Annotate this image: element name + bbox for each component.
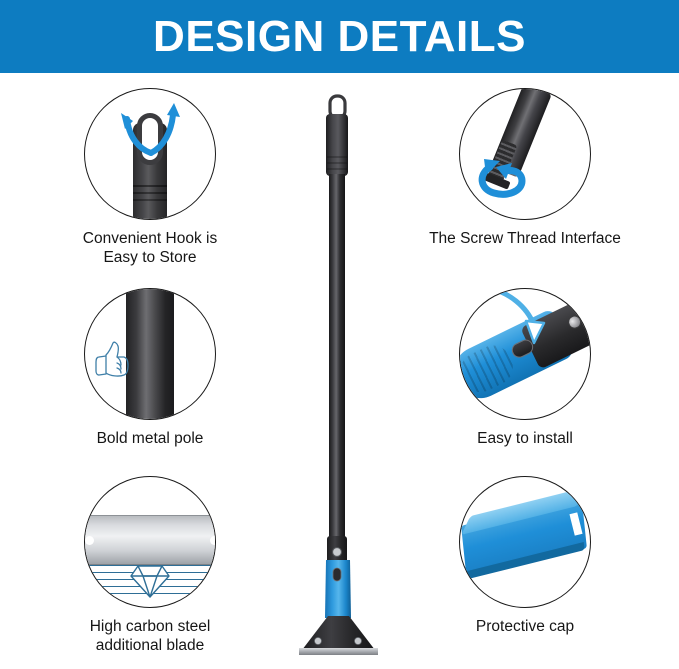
- grip-button-closeup-circle: [459, 288, 591, 420]
- feature-caption: Easy to install: [477, 429, 573, 448]
- thumbs-up-icon: [93, 337, 141, 381]
- product-connector: [327, 536, 347, 572]
- feature-protective-cap: Protective cap: [425, 476, 625, 636]
- screw-thread-closeup-circle: [459, 88, 591, 220]
- product-top-grip-ridges: [327, 157, 347, 169]
- blade-mount-hole-right: [210, 536, 216, 545]
- feature-caption: Convenient Hook is Easy to Store: [83, 229, 217, 267]
- rotate-arrow-icon: [460, 89, 591, 220]
- design-details-infographic: DESIGN DETAILS Convenient Hook is Easy t…: [0, 0, 679, 669]
- product-head-screw-left: [314, 637, 321, 644]
- metal-pole-closeup-circle: [84, 288, 216, 420]
- rotation-arrows-icon: [85, 89, 216, 220]
- product-hook-loop: [330, 96, 345, 118]
- product-scraper-head: [302, 616, 375, 650]
- product-head-screw-right: [354, 637, 361, 644]
- feature-caption: High carbon steel additional blade: [90, 617, 211, 655]
- product-pole: [329, 174, 345, 546]
- feature-caption: The Screw Thread Interface: [400, 229, 650, 248]
- header-banner: DESIGN DETAILS: [0, 0, 679, 73]
- product-connector-screw: [333, 548, 342, 557]
- blade-mount-hole-left: [85, 536, 94, 545]
- press-down-arrow-icon: [482, 288, 578, 373]
- diamond-icon: [129, 561, 171, 601]
- protective-cap-closeup-circle: [459, 476, 591, 608]
- product-top-grip: [326, 114, 348, 176]
- product-blue-grip: [325, 560, 351, 618]
- feature-caption: Protective cap: [476, 617, 574, 636]
- product-release-button: [333, 568, 341, 581]
- hook-closeup-circle: [84, 88, 216, 220]
- feature-carbon-steel-blade: High carbon steel additional blade: [50, 476, 250, 655]
- feature-convenient-hook: Convenient Hook is Easy to Store: [50, 88, 250, 267]
- feature-screw-thread-interface: The Screw Thread Interface: [425, 88, 625, 248]
- feature-bold-metal-pole: Bold metal pole: [50, 288, 250, 448]
- steel-blade: [84, 515, 216, 565]
- steel-blade-closeup-circle: [84, 476, 216, 608]
- feature-easy-to-install: Easy to install: [425, 288, 625, 448]
- feature-caption: Bold metal pole: [97, 429, 204, 448]
- page-title: DESIGN DETAILS: [153, 15, 526, 59]
- product-blade-edge: [299, 648, 378, 655]
